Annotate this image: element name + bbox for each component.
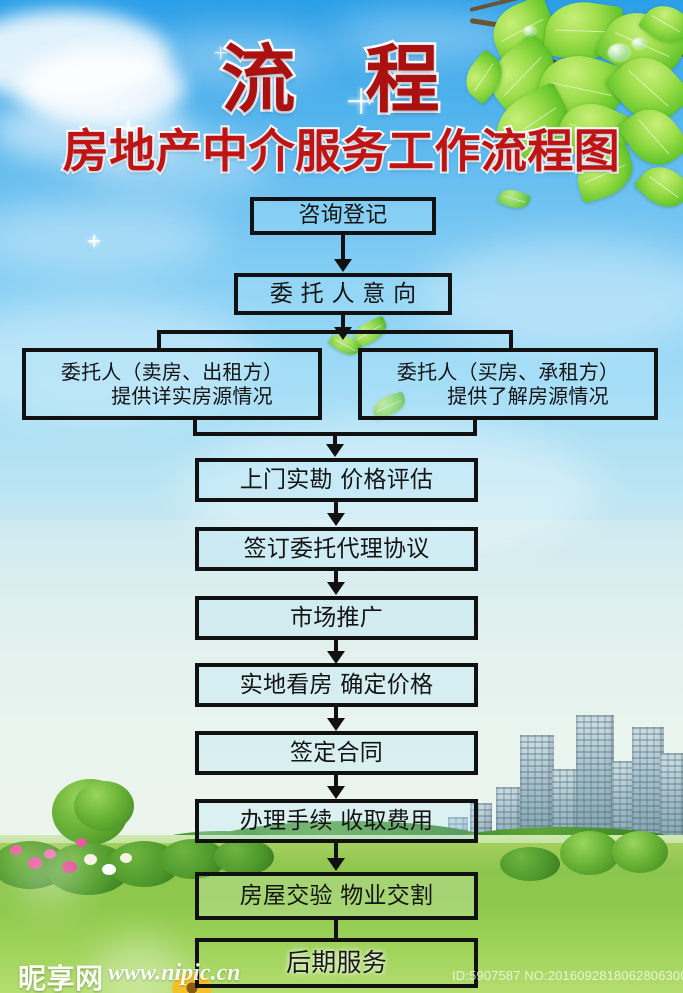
flow-node-label: 后期服务 bbox=[286, 948, 387, 979]
flow-node-label-line2: 提供详实房源情况 bbox=[71, 384, 273, 408]
flow-node-label: 委托人意向 bbox=[262, 280, 424, 308]
flow-node-viewing-price-confirm[interactable]: 实地看房 确定价格 bbox=[195, 663, 478, 707]
site-url-watermark: www.nipic.cn bbox=[108, 960, 240, 987]
flow-node-site-survey-valuation[interactable]: 上门实勘 价格评估 bbox=[195, 458, 478, 502]
flow-node-label: 市场推广 bbox=[290, 604, 383, 632]
flowchart: 咨询登记 委托人意向 委托人（卖房、出租方） 提供详实房源情况 委托人（买房、承… bbox=[0, 0, 683, 993]
flow-node-label: 房屋交验 物业交割 bbox=[240, 882, 433, 910]
connector-line bbox=[341, 235, 345, 261]
connector-line bbox=[334, 920, 338, 940]
flow-node-label: 实地看房 确定价格 bbox=[240, 671, 433, 699]
flow-node-label: 签定合同 bbox=[290, 739, 383, 767]
flow-node-sign-contract[interactable]: 签定合同 bbox=[195, 731, 478, 775]
arrow-icon bbox=[326, 444, 344, 457]
flow-node-label: 咨询登记 bbox=[299, 203, 388, 230]
arrow-icon bbox=[327, 858, 345, 871]
flow-node-sign-agency-agreement[interactable]: 签订委托代理协议 bbox=[195, 527, 478, 571]
flow-node-handover-property-delivery[interactable]: 房屋交验 物业交割 bbox=[195, 872, 478, 920]
flow-node-seller-landlord[interactable]: 委托人（卖房、出租方） 提供详实房源情况 bbox=[22, 348, 322, 420]
flow-node-consultation-registration[interactable]: 咨询登记 bbox=[250, 197, 436, 235]
flow-node-client-intention[interactable]: 委托人意向 bbox=[234, 273, 452, 315]
arrow-icon bbox=[327, 582, 345, 595]
poster-canvas: 流 程 房地产中介服务工作流程图 咨询登记 委托人意向 委托人（卖房、出租方） … bbox=[0, 0, 683, 993]
flow-node-label: 办理手续 收取费用 bbox=[240, 807, 433, 835]
flow-node-procedures-fees[interactable]: 办理手续 收取费用 bbox=[195, 799, 478, 843]
flow-node-label-line1: 委托人（卖房、出租方） bbox=[61, 360, 283, 384]
arrow-icon bbox=[327, 786, 345, 799]
flow-node-label: 上门实勘 价格评估 bbox=[240, 466, 433, 494]
site-logo-watermark: 昵享网 bbox=[18, 957, 104, 993]
connector-line bbox=[157, 330, 513, 334]
flow-node-label-line2: 提供了解房源情况 bbox=[407, 384, 609, 408]
flow-node-marketing[interactable]: 市场推广 bbox=[195, 596, 478, 640]
flow-node-label-line1: 委托人（买房、承租方） bbox=[397, 360, 619, 384]
arrow-icon bbox=[327, 718, 345, 731]
flow-node-buyer-tenant[interactable]: 委托人（买房、承租方） 提供了解房源情况 bbox=[358, 348, 658, 420]
flow-node-label: 签订委托代理协议 bbox=[244, 535, 430, 563]
arrow-icon bbox=[334, 259, 352, 272]
image-id-watermark: ID:5907587 NO:20160928180628063000 bbox=[452, 968, 683, 983]
arrow-icon bbox=[327, 513, 345, 526]
